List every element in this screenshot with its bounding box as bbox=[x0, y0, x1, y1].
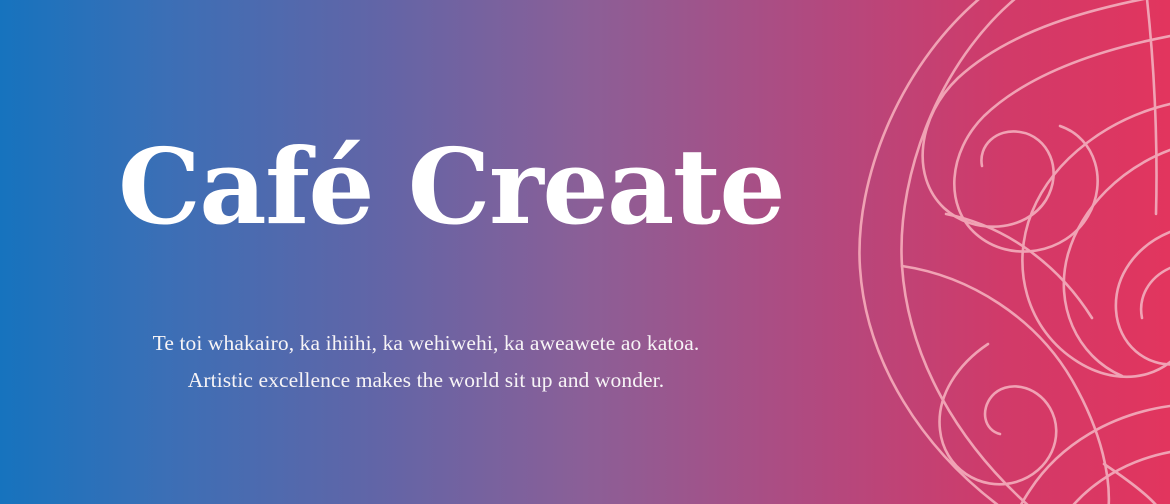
hero-text-content: Café Create Te toi whakairo, ka ihiihi, … bbox=[0, 0, 820, 504]
tagline-line-english: Artistic excellence makes the world sit … bbox=[0, 362, 852, 399]
koru-spiral-decoration bbox=[840, 0, 1170, 504]
cafe-create-hero-banner: Café Create Te toi whakairo, ka ihiihi, … bbox=[0, 0, 1170, 504]
page-title: Café Create bbox=[118, 133, 784, 241]
tagline-block: Te toi whakairo, ka ihiihi, ka wehiwehi,… bbox=[0, 325, 852, 399]
tagline-line-maori: Te toi whakairo, ka ihiihi, ka wehiwehi,… bbox=[0, 325, 852, 362]
